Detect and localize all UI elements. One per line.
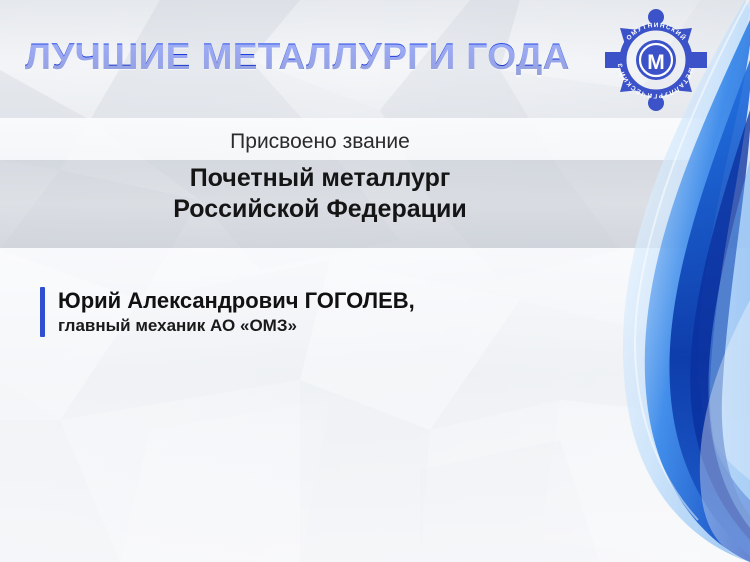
page-title: ЛУЧШИЕ МЕТАЛЛУРГИ ГОДА	[25, 38, 605, 75]
honoree-text: Юрий Александрович ГОГОЛЕВ, главный меха…	[58, 287, 415, 337]
award-block: Присвоено звание Почетный металлург Росс…	[0, 128, 640, 224]
award-title-line-1: Почетный металлург	[0, 163, 640, 194]
award-slide: ЛУЧШИЕ МЕТАЛЛУРГИ ГОДА	[0, 0, 750, 562]
title-bar: ЛУЧШИЕ МЕТАЛЛУРГИ ГОДА	[25, 38, 605, 75]
award-kicker: Присвоено звание	[0, 128, 640, 155]
omz-plant-logo-icon: М ОМУТНИНСКИЙ МЕТАЛЛУРГИЧЕСКИЙ ЗАВОД	[604, 8, 708, 112]
honoree-name: Юрий Александрович ГОГОЛЕВ,	[58, 288, 415, 313]
accent-bar	[40, 287, 45, 337]
award-title-line-2: Российской Федерации	[0, 194, 640, 225]
honoree-block: Юрий Александрович ГОГОЛЕВ, главный меха…	[40, 287, 415, 337]
logo-center-letter: М	[647, 51, 665, 74]
award-title: Почетный металлург Российской Федерации	[0, 163, 640, 224]
honoree-role: главный механик АО «ОМЗ»	[58, 316, 415, 336]
